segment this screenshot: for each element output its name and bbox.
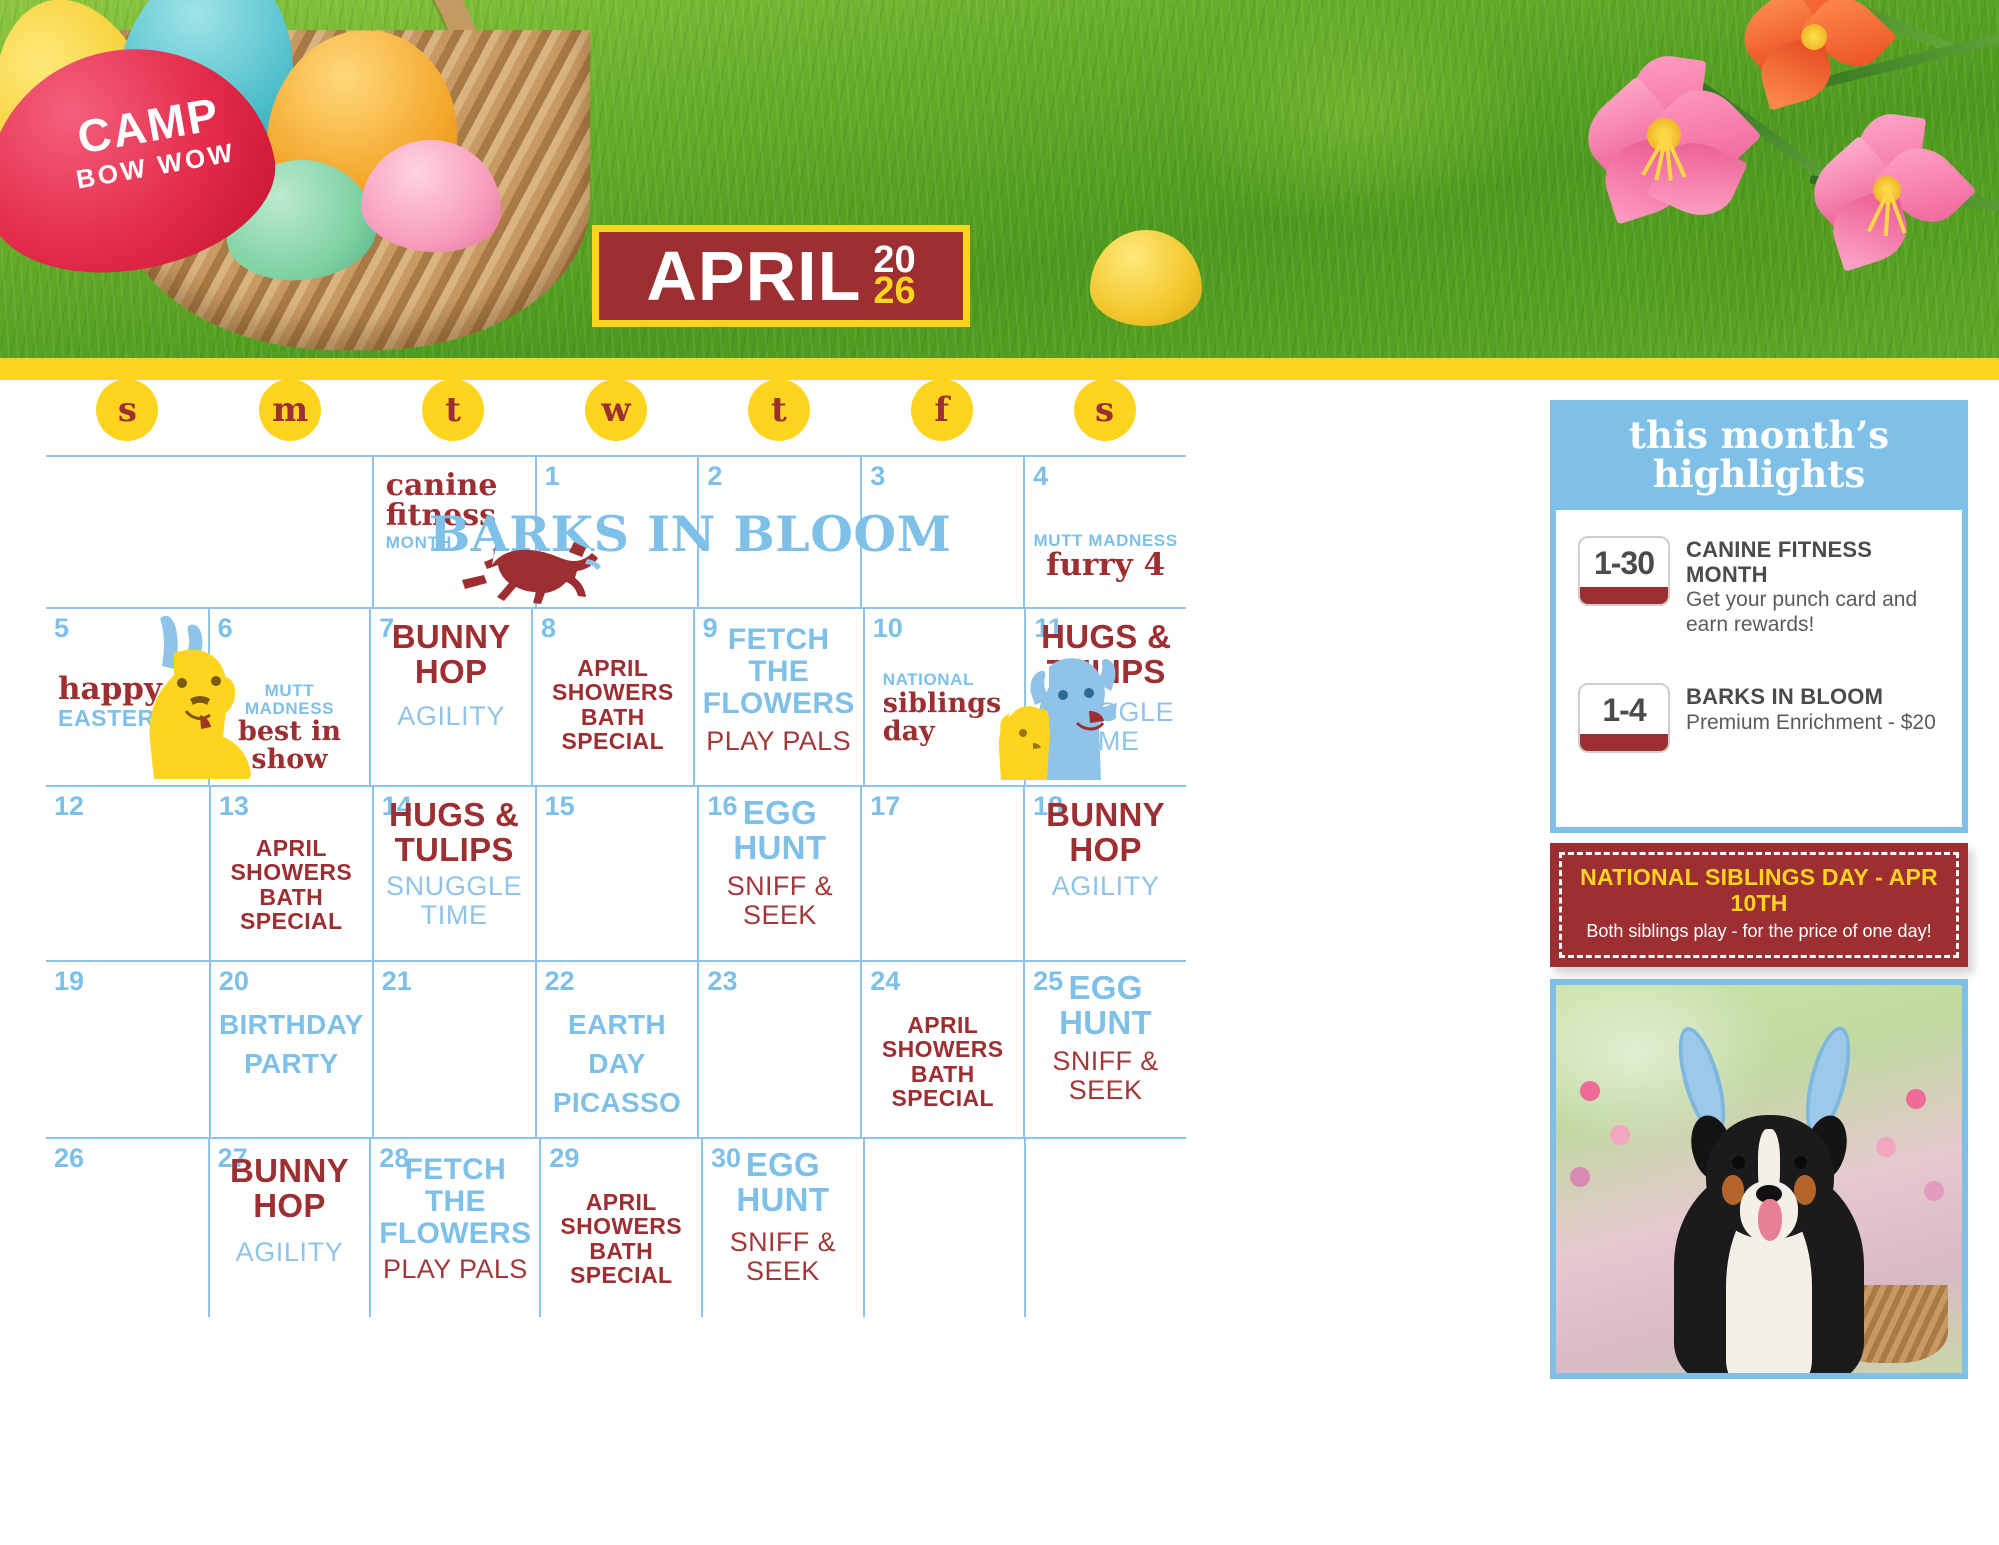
day-cell-16[interactable]: 16 EGG HUNT SNIFF & SEEK	[697, 787, 860, 960]
day-cell-23[interactable]: 23	[697, 962, 860, 1137]
day-number: 23	[707, 968, 852, 995]
event-title: happy	[58, 674, 200, 705]
canine-fitness-block: canine fitness MONTH	[382, 471, 527, 553]
event-title: HUGS & TULIPS	[1034, 620, 1178, 690]
day-cell-12[interactable]: 12	[46, 787, 209, 960]
day-cell-18[interactable]: 18 BUNNY HOP AGILITY	[1023, 787, 1186, 960]
dow-letter: t	[445, 393, 461, 427]
event-best-in-show: MUTT MADNESS best in show	[218, 682, 362, 773]
day-number: 2	[707, 463, 852, 490]
dow-wednesday: w	[535, 368, 698, 452]
event-fetch-the-flowers: FETCH THE FLOWERS PLAY PALS	[703, 624, 855, 756]
day-cell-4[interactable]: 4 MUTT MADNESS furry 4	[1023, 457, 1186, 607]
event-april-showers: APRIL SHOWERS BATH SPECIAL	[870, 1013, 1015, 1111]
day-number: 8	[541, 615, 685, 642]
event-sub: SNIFF & SEEK	[1033, 1047, 1178, 1104]
calendar-grid: canine fitness MONTH 1 2 3 4 MUTT MADNE	[46, 455, 1186, 1537]
dow-letter: t	[771, 393, 787, 427]
day-cell-17[interactable]: 17	[860, 787, 1023, 960]
day-cell-1[interactable]: 1	[535, 457, 698, 607]
flower-pink-1	[1579, 50, 1749, 220]
canine-fitness-line2: fitness	[386, 501, 527, 531]
day-cell-9[interactable]: 9 FETCH THE FLOWERS PLAY PALS	[693, 609, 863, 785]
day-number: 22	[545, 968, 690, 995]
highlight-text: CANINE FITNESS MONTH Get your punch card…	[1686, 536, 1940, 637]
day-cell-6[interactable]: 6 MUTT MADNESS best in show	[208, 609, 370, 785]
day-number: 3	[870, 463, 1015, 490]
event-fetch-the-flowers: FETCH THE FLOWERS PLAY PALS	[379, 1154, 531, 1284]
highlight-item-canine-fitness[interactable]: 1-30 CANINE FITNESS MONTH Get your punch…	[1578, 536, 1940, 637]
day-cell-canine-fitness[interactable]: canine fitness MONTH	[372, 457, 535, 607]
canine-fitness-line3: MONTH	[386, 533, 527, 553]
day-number: 19	[54, 968, 201, 995]
day-cell-3[interactable]: 3	[860, 457, 1023, 607]
dow-monday: m	[209, 368, 372, 452]
day-cell-27[interactable]: 27 BUNNY HOP AGILITY	[208, 1139, 370, 1317]
event-hugs-and-tulips: HUGS & TULIPS SNUGGLE TIME	[1034, 620, 1178, 755]
day-number: 21	[382, 968, 527, 995]
event-sub: SNIFF & SEEK	[707, 872, 852, 929]
day-number: 29	[549, 1145, 693, 1172]
day-cell-5[interactable]: 5 happy EASTER	[46, 609, 208, 785]
dow-thursday: t	[697, 368, 860, 452]
highlight-subtitle: Premium Enrichment - $20	[1686, 711, 1936, 736]
event-title: APRIL SHOWERS BATH SPECIAL	[541, 656, 685, 754]
event-title: BIRTHDAY PARTY	[219, 1005, 364, 1083]
event-april-showers: APRIL SHOWERS BATH SPECIAL	[541, 656, 685, 754]
event-national-siblings-day: NATIONAL siblings day	[873, 670, 1017, 745]
bernese-mountain-dog	[1644, 1051, 1894, 1379]
day-cell-7[interactable]: 7 BUNNY HOP AGILITY	[369, 609, 531, 785]
canine-fitness-line1: canine	[386, 471, 527, 501]
event-title: siblings day	[883, 690, 1017, 745]
day-cell-29[interactable]: 29 APRIL SHOWERS BATH SPECIAL	[539, 1139, 701, 1317]
event-sub: SNIFF & SEEK	[711, 1228, 855, 1285]
event-sub: AGILITY	[379, 702, 523, 731]
promo-coupon[interactable]: NATIONAL SIBLINGS DAY - APR 10TH Both si…	[1550, 843, 1968, 967]
day-cell-19[interactable]: 19	[46, 962, 209, 1137]
event-april-showers: APRIL SHOWERS BATH SPECIAL	[549, 1190, 693, 1288]
easter-basket: CAMP BOW WOW	[0, 0, 610, 355]
date-badge-range: 1-30	[1594, 545, 1654, 582]
page-title: APRIL	[646, 243, 861, 310]
event-sub: PLAY PALS	[703, 727, 855, 756]
event-sub: AGILITY	[1033, 872, 1178, 901]
dow-letter: f	[934, 393, 949, 427]
event-hugs-and-tulips: HUGS & TULIPS SNUGGLE TIME	[382, 798, 527, 929]
tennis-ball-icon: t	[422, 379, 484, 441]
day-cell-26[interactable]: 26	[46, 1139, 208, 1317]
calendar-week-4: 19 20 BIRTHDAY PARTY 21 22 EARTH DAY PIC…	[46, 960, 1186, 1137]
event-title: HUGS & TULIPS	[382, 798, 527, 868]
event-title: furry 4	[1033, 550, 1178, 581]
highlights-list: 1-30 CANINE FITNESS MONTH Get your punch…	[1556, 510, 1962, 827]
highlight-subtitle: Get your punch card and earn rewards!	[1686, 588, 1940, 638]
dow-letter: s	[1095, 393, 1114, 427]
day-number: 12	[54, 793, 201, 820]
day-number: 20	[219, 968, 364, 995]
highlight-text: BARKS IN BLOOM Premium Enrichment - $20	[1686, 683, 1936, 753]
dow-letter: m	[272, 393, 308, 427]
dow-letter: w	[601, 393, 630, 427]
day-cell-empty[interactable]	[1024, 1139, 1186, 1317]
promo-inner: NATIONAL SIBLINGS DAY - APR 10TH Both si…	[1559, 852, 1959, 958]
day-cell-empty[interactable]	[863, 1139, 1025, 1317]
event-bunny-hop: BUNNY HOP AGILITY	[1033, 798, 1178, 901]
calendar-week-1: canine fitness MONTH 1 2 3 4 MUTT MADNE	[46, 455, 1186, 607]
day-of-week-header: s m t w t f s	[46, 368, 1186, 452]
tennis-ball-icon: s	[1074, 379, 1136, 441]
day-cell-14[interactable]: 14 HUGS & TULIPS SNUGGLE TIME	[372, 787, 535, 960]
event-title: BUNNY HOP	[218, 1154, 362, 1224]
day-cell-13[interactable]: 13 APRIL SHOWERS BATH SPECIAL	[209, 787, 372, 960]
event-title: BUNNY HOP	[1033, 798, 1178, 868]
dow-friday: f	[860, 368, 1023, 452]
dow-tuesday: t	[372, 368, 535, 452]
event-title: EARTH DAY PICASSO	[545, 1005, 690, 1123]
day-cell-24[interactable]: 24 APRIL SHOWERS BATH SPECIAL	[860, 962, 1023, 1137]
day-cell-21[interactable]: 21	[372, 962, 535, 1137]
day-cell-20[interactable]: 20 BIRTHDAY PARTY	[209, 962, 372, 1137]
dow-saturday: s	[1023, 368, 1186, 452]
year-stack: 20 26	[873, 245, 915, 307]
day-cell-25[interactable]: 25 EGG HUNT SNIFF & SEEK	[1023, 962, 1186, 1137]
event-bunny-hop: BUNNY HOP AGILITY	[218, 1154, 362, 1267]
day-number: 4	[1033, 463, 1178, 490]
event-mutt-madness: MUTT MADNESS furry 4	[1033, 532, 1178, 581]
hero-banner: CAMP BOW WOW	[0, 0, 1999, 380]
day-cell-30[interactable]: 30 EGG HUNT SNIFF & SEEK	[701, 1139, 863, 1317]
highlights-card: this month’s highlights 1-30 CANINE FITN…	[1550, 400, 1968, 833]
day-number: 15	[545, 793, 690, 820]
flower-pink-2	[1807, 110, 1967, 270]
day-number: 13	[219, 793, 364, 820]
calendar-week-2: 5 happy EASTER 6 MUTT MADNESS best i	[46, 607, 1186, 785]
day-number: 24	[870, 968, 1015, 995]
flowers-decoration	[1589, 0, 1999, 320]
event-sub: SNUGGLE TIME	[382, 872, 527, 929]
day-cell-28[interactable]: 28 FETCH THE FLOWERS PLAY PALS	[369, 1139, 539, 1317]
date-badge-range: 1-4	[1602, 692, 1645, 729]
day-cell-15[interactable]: 15	[535, 787, 698, 960]
event-sub: EASTER	[58, 705, 200, 732]
date-badge-icon: 1-30	[1578, 536, 1670, 606]
day-cell-22[interactable]: 22 EARTH DAY PICASSO	[535, 962, 698, 1137]
day-number: 6	[218, 615, 362, 642]
flower-orange-1	[1739, 0, 1889, 112]
highlight-title: BARKS IN BLOOM	[1686, 685, 1936, 709]
highlight-title: CANINE FITNESS MONTH	[1686, 538, 1940, 586]
event-sub: AGILITY	[218, 1238, 362, 1267]
date-badge-icon: 1-4	[1578, 683, 1670, 753]
highlights-title-line1: this month’s	[1556, 416, 1962, 455]
event-title: BUNNY HOP	[379, 620, 523, 690]
tennis-ball-icon: t	[748, 379, 810, 441]
event-sub: PLAY PALS	[379, 1255, 531, 1284]
dow-sunday: s	[46, 368, 209, 452]
highlights-header: this month’s highlights	[1556, 406, 1962, 510]
calendar-week-3: 12 13 APRIL SHOWERS BATH SPECIAL 14 HUGS…	[46, 785, 1186, 960]
event-bunny-hop: BUNNY HOP AGILITY	[379, 620, 523, 731]
tennis-ball-icon: f	[911, 379, 973, 441]
day-number: 17	[870, 793, 1015, 820]
promo-subtitle: Both siblings play - for the price of on…	[1574, 921, 1944, 942]
tennis-ball-icon: s	[96, 379, 158, 441]
tennis-ball-icon: w	[585, 379, 647, 441]
event-earth-day-picasso: EARTH DAY PICASSO	[545, 1005, 690, 1123]
event-title: APRIL SHOWERS BATH SPECIAL	[870, 1013, 1015, 1111]
calendar-week-5: 26 27 BUNNY HOP AGILITY 28 FETCH THE FLO…	[46, 1137, 1186, 1317]
event-title: FETCH THE FLOWERS	[703, 624, 855, 719]
day-number: 5	[54, 615, 200, 642]
event-birthday-party: BIRTHDAY PARTY	[219, 1005, 364, 1083]
day-cell-2[interactable]: 2	[697, 457, 860, 607]
dow-letter: s	[118, 393, 137, 427]
day-number: 1	[545, 463, 690, 490]
day-number: 26	[54, 1145, 200, 1172]
bernese-dog-photo	[1550, 979, 1968, 1379]
year-bottom: 26	[873, 276, 915, 307]
event-title: best in show	[218, 718, 362, 773]
sidebar: this month’s highlights 1-30 CANINE FITN…	[1550, 400, 1968, 1540]
event-easter: happy EASTER	[54, 674, 200, 732]
day-cell-empty[interactable]	[46, 457, 209, 607]
promo-title: NATIONAL SIBLINGS DAY - APR 10TH	[1574, 865, 1944, 917]
day-cell-empty[interactable]	[209, 457, 372, 607]
event-title: APRIL SHOWERS BATH SPECIAL	[549, 1190, 693, 1288]
day-cell-8[interactable]: 8 APRIL SHOWERS BATH SPECIAL	[531, 609, 693, 785]
day-cell-10[interactable]: 10 NATIONAL siblings day	[863, 609, 1025, 785]
event-title: APRIL SHOWERS BATH SPECIAL	[219, 836, 364, 934]
day-number: 10	[873, 615, 1017, 642]
event-kicker: MUTT MADNESS	[218, 682, 362, 718]
event-sub: SNUGGLE TIME	[1034, 698, 1178, 755]
month-title-plate: APRIL 20 26	[592, 225, 970, 327]
highlights-title-line2: highlights	[1556, 455, 1962, 494]
highlight-item-barks-in-bloom[interactable]: 1-4 BARKS IN BLOOM Premium Enrichment - …	[1578, 683, 1940, 753]
tennis-ball-icon: m	[259, 379, 321, 441]
event-april-showers: APRIL SHOWERS BATH SPECIAL	[219, 836, 364, 934]
event-kicker: NATIONAL	[883, 670, 1017, 690]
day-cell-11[interactable]: 11 HUGS & TULIPS SNUGGLE TIME	[1024, 609, 1186, 785]
